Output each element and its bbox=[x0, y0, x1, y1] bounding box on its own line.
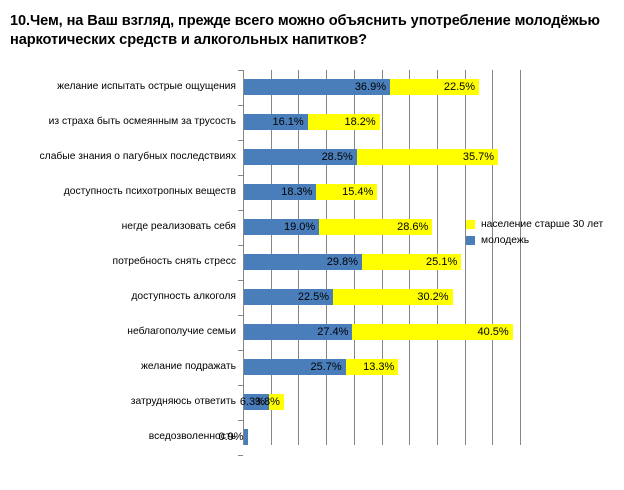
axis-tick bbox=[238, 175, 243, 176]
bar-value-label: 29.8% bbox=[327, 256, 362, 268]
bar-segment-youth[interactable]: 27.4% bbox=[244, 324, 352, 340]
axis-tick bbox=[238, 280, 243, 281]
axis-end-tick-row bbox=[243, 455, 520, 490]
bar-value-label: 15.4% bbox=[342, 186, 377, 198]
bar-segment-youth[interactable]: 0.9% bbox=[244, 429, 248, 445]
chart-category-row: доступность алкоголя22.5%30.2% bbox=[243, 280, 520, 315]
axis-tick bbox=[238, 105, 243, 106]
chart-category-row: доступность психотропных веществ18.3%15.… bbox=[243, 175, 520, 210]
chart-category-row: желание подражать25.7%13.3% bbox=[243, 350, 520, 385]
bar-value-label: 28.5% bbox=[322, 151, 357, 163]
legend-item-label: молодежь bbox=[481, 235, 529, 246]
bar-segment-over30[interactable]: 35.7% bbox=[357, 149, 498, 165]
bar-segment-over30[interactable]: 13.3% bbox=[346, 359, 399, 375]
bar-value-label: 28.6% bbox=[397, 221, 432, 233]
category-axis-label: потребность снять стресс bbox=[0, 254, 243, 270]
stacked-bar[interactable]: 25.7%13.3% bbox=[244, 359, 398, 375]
bar-value-label: 19.0% bbox=[284, 221, 319, 233]
bar-segment-youth[interactable]: 29.8% bbox=[244, 254, 362, 270]
chart-category-row: неблагополучие семьи27.4%40.5% bbox=[243, 315, 520, 350]
axis-tick bbox=[238, 70, 243, 71]
legend-item[interactable]: население старше 30 лет bbox=[466, 219, 603, 230]
bar-value-label: 18.3% bbox=[281, 186, 316, 198]
axis-tick bbox=[238, 315, 243, 316]
bar-value-label: 35.7% bbox=[463, 151, 498, 163]
axis-tick bbox=[238, 140, 243, 141]
chart-category-row: из страха быть осмеянным за трусость16.1… bbox=[243, 105, 520, 140]
bar-segment-youth[interactable]: 16.1% bbox=[244, 114, 308, 130]
chart-category-row: затрудняюсь ответить6.3%3.8% bbox=[243, 385, 520, 420]
category-axis-label: доступность психотропных веществ bbox=[0, 184, 243, 200]
category-axis-label: желание подражать bbox=[0, 359, 243, 375]
bar-value-label: 25.1% bbox=[426, 256, 461, 268]
stacked-bar[interactable]: 36.9%22.5% bbox=[244, 79, 479, 95]
axis-tick bbox=[238, 420, 243, 421]
category-axis-label: затрудняюсь ответить bbox=[0, 394, 243, 410]
bar-segment-over30[interactable]: 28.6% bbox=[319, 219, 432, 235]
stacked-bar[interactable]: 6.3%3.8% bbox=[244, 394, 284, 410]
legend-item-label: население старше 30 лет bbox=[481, 219, 603, 230]
axis-tick bbox=[238, 350, 243, 351]
axis-tick bbox=[238, 385, 243, 386]
gridline bbox=[520, 70, 521, 445]
bar-value-label: 30.2% bbox=[417, 291, 452, 303]
stacked-bar[interactable]: 18.3%15.4% bbox=[244, 184, 377, 200]
bar-segment-over30[interactable]: 22.5% bbox=[390, 79, 479, 95]
stacked-bar[interactable]: 29.8%25.1% bbox=[244, 254, 461, 270]
category-axis-label: слабые знания о пагубных последствиях bbox=[0, 149, 243, 165]
bar-value-label: 13.3% bbox=[363, 361, 398, 373]
chart-plot-area: желание испытать острые ощущения36.9%22.… bbox=[243, 70, 520, 445]
chart-category-row: желание испытать острые ощущения36.9%22.… bbox=[243, 70, 520, 105]
category-axis-label: желание испытать острые ощущения bbox=[0, 79, 243, 95]
axis-tick bbox=[238, 455, 243, 456]
chart-category-row: вседозволенность0.9% bbox=[243, 420, 520, 455]
category-axis-label: негде реализовать себя bbox=[0, 219, 243, 235]
bar-value-label: 3.8% bbox=[255, 396, 284, 408]
bar-segment-over30[interactable]: 15.4% bbox=[316, 184, 377, 200]
chart-category-row: слабые знания о пагубных последствиях28.… bbox=[243, 140, 520, 175]
bar-value-label: 16.1% bbox=[273, 116, 308, 128]
page-title: 10.Чем, на Ваш взгляд, прежде всего можн… bbox=[10, 12, 614, 50]
bar-segment-youth[interactable]: 18.3% bbox=[244, 184, 316, 200]
stacked-bar[interactable]: 19.0%28.6% bbox=[244, 219, 432, 235]
bar-segment-youth[interactable]: 19.0% bbox=[244, 219, 319, 235]
legend-color-swatch bbox=[466, 220, 475, 229]
legend-color-swatch bbox=[466, 236, 475, 245]
chart-legend: население старше 30 летмолодежь bbox=[466, 219, 603, 251]
bar-value-label: 18.2% bbox=[345, 116, 380, 128]
bar-value-label: 22.5% bbox=[444, 81, 479, 93]
stacked-bar[interactable]: 27.4%40.5% bbox=[244, 324, 513, 340]
stacked-bar[interactable]: 28.5%35.7% bbox=[244, 149, 498, 165]
bar-value-label: 22.5% bbox=[298, 291, 333, 303]
category-axis-label: доступность алкоголя bbox=[0, 289, 243, 305]
bar-segment-over30[interactable]: 18.2% bbox=[308, 114, 380, 130]
bar-value-label: 40.5% bbox=[477, 326, 512, 338]
bar-segment-youth[interactable]: 36.9% bbox=[244, 79, 390, 95]
bar-value-label: 25.7% bbox=[310, 361, 345, 373]
category-axis-label: неблагополучие семьи bbox=[0, 324, 243, 340]
stacked-bar[interactable]: 22.5%30.2% bbox=[244, 289, 453, 305]
bar-value-label: 36.9% bbox=[355, 81, 390, 93]
bar-value-label: 0.9% bbox=[218, 431, 247, 443]
bar-segment-youth[interactable]: 25.7% bbox=[244, 359, 346, 375]
category-axis-label: из страха быть осмеянным за трусость bbox=[0, 114, 243, 130]
bar-value-label: 27.4% bbox=[317, 326, 352, 338]
bar-segment-over30[interactable]: 30.2% bbox=[333, 289, 453, 305]
stacked-bar[interactable]: 16.1%18.2% bbox=[244, 114, 380, 130]
axis-tick bbox=[238, 210, 243, 211]
bar-segment-over30[interactable]: 40.5% bbox=[352, 324, 512, 340]
bar-segment-youth[interactable]: 22.5% bbox=[244, 289, 333, 305]
bar-segment-over30[interactable]: 3.8% bbox=[269, 394, 284, 410]
bar-segment-youth[interactable]: 28.5% bbox=[244, 149, 357, 165]
axis-tick bbox=[238, 245, 243, 246]
bar-segment-over30[interactable]: 25.1% bbox=[362, 254, 461, 270]
category-axis-label: вседозволенность bbox=[0, 429, 243, 445]
legend-item[interactable]: молодежь bbox=[466, 235, 603, 246]
stacked-bar[interactable]: 0.9% bbox=[244, 429, 248, 445]
